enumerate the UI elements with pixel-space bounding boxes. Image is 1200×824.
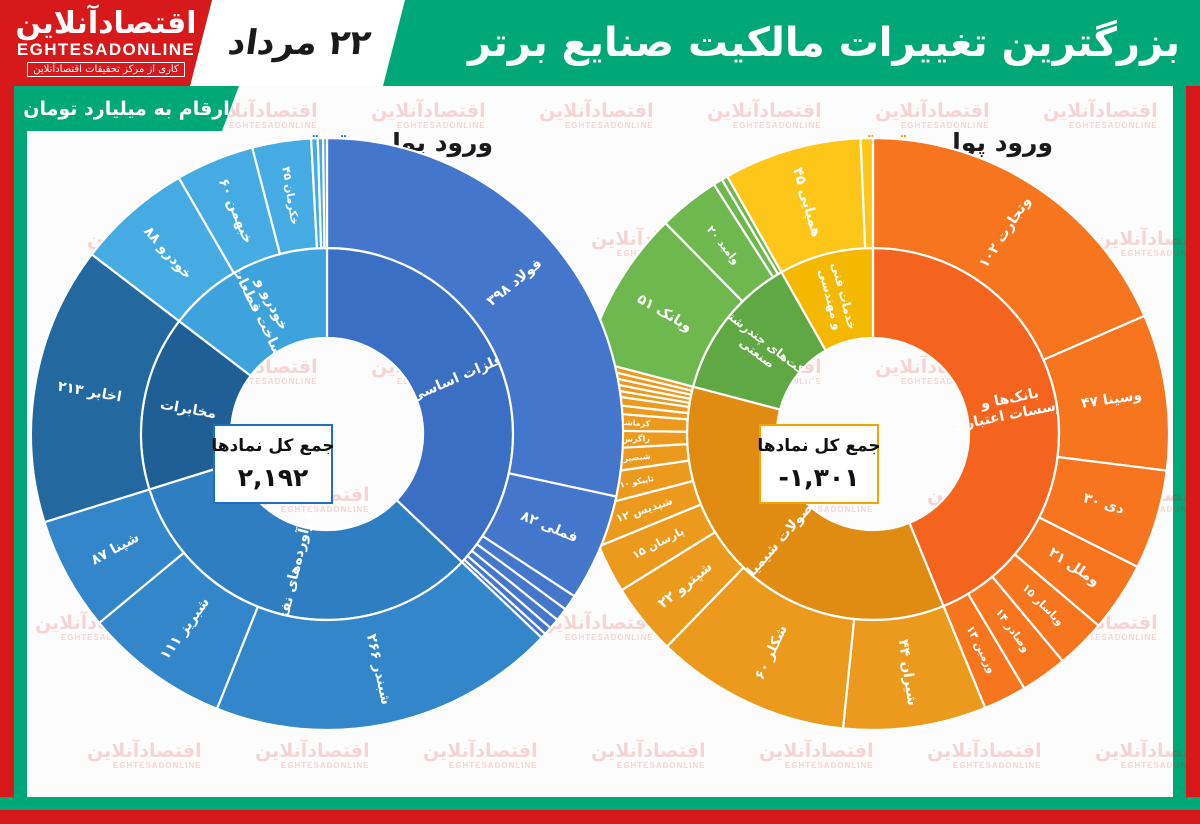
logo-english-name: EGHTESADONLINE — [17, 40, 195, 60]
watermark: اقتصادآنلاینEGHTESADONLINE — [875, 102, 990, 131]
watermark: اقتصادآنلاینEGHTESADONLINE — [1043, 102, 1158, 131]
watermark: اقتصادآنلاینEGHTESADONLINE — [707, 102, 822, 131]
logo-persian-name: اقتصادآنلاین — [16, 9, 197, 39]
unit-note-label: ارقام به میلیارد تومان — [23, 98, 229, 120]
page-title: بزرگترین تغییرات مالکیت صنایع برتر — [400, 0, 1190, 86]
legal-total-label: جمع کل نمادها — [757, 436, 880, 456]
watermark: اقتصادآنلاینEGHTESADONLINE — [539, 102, 654, 131]
logo[interactable]: اقتصادآنلاین EGHTESADONLINE کاری از مرکز… — [8, 5, 204, 81]
logo-subtitle: کاری از مرکز تحقیقات اقتصادآنلاین — [27, 62, 184, 77]
unit-note-strip: ارقام به میلیارد تومان — [14, 86, 239, 131]
border-band-right-red — [1186, 0, 1200, 824]
legal-total-value: ۱,۳۰۱- — [779, 463, 860, 492]
legal-total-box: جمع کل نمادها ۱,۳۰۱- — [759, 424, 879, 504]
real-total-box: جمع کل نمادها ۲,۱۹۲ — [213, 424, 333, 504]
charts-stage: اقتصادآنلاینEGHTESADONLINEاقتصادآنلاینEG… — [27, 86, 1173, 797]
border-band-bottom-red — [0, 810, 1200, 824]
watermark: اقتصادآنلاینEGHTESADONLINE — [371, 102, 486, 131]
sunburst-symbol-خزامیا ۳[interactable] — [323, 138, 327, 248]
real-total-value: ۲,۱۹۲ — [238, 463, 309, 492]
infographic-frame: اقتصادآنلاین EGHTESADONLINE کاری از مرکز… — [0, 0, 1200, 824]
border-band-left-red — [0, 0, 14, 824]
publication-date: ۲۲ مرداد — [206, 0, 393, 86]
border-band-right-green — [1173, 0, 1186, 824]
header: اقتصادآنلاین EGHTESADONLINE کاری از مرکز… — [0, 0, 1200, 86]
border-band-bottom-green — [0, 797, 1200, 810]
real-total-label: جمع کل نمادها — [211, 436, 334, 456]
